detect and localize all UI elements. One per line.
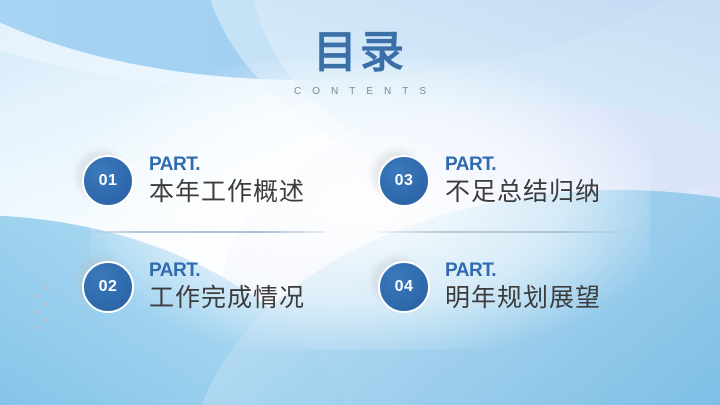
page-title: 目录 [0, 28, 720, 78]
divider-left [82, 231, 325, 233]
badge-wrap-02: 02 [82, 261, 134, 313]
decorative-dot [36, 326, 40, 330]
page-subtitle: CONTENTS [0, 86, 720, 97]
content-item-03-texts: PART. 不足总结归纳 [445, 154, 601, 208]
item-title-04[interactable]: 明年规划展望 [445, 282, 601, 314]
decorative-dot [36, 310, 40, 314]
presentation-slide: 目录 CONTENTS 01 PART. 本年工作概述 03 [0, 0, 720, 405]
content-item-01[interactable]: 01 PART. 本年工作概述 [82, 138, 360, 224]
item-title-02[interactable]: 工作完成情况 [149, 282, 305, 314]
decorative-dot [44, 286, 48, 290]
part-label-01: PART. [149, 154, 305, 175]
part-label-03: PART. [445, 154, 601, 175]
decorative-dot [44, 302, 48, 306]
content-item-04-texts: PART. 明年规划展望 [445, 260, 601, 314]
number-badge-04[interactable]: 04 [378, 261, 430, 313]
decorative-dot-column [32, 286, 54, 334]
content-item-01-texts: PART. 本年工作概述 [149, 154, 305, 208]
item-title-03[interactable]: 不足总结归纳 [445, 176, 601, 208]
contents-row-top: 01 PART. 本年工作概述 03 PART. 不足总结归纳 [82, 138, 638, 224]
badge-wrap-04: 04 [378, 261, 430, 313]
content-item-04[interactable]: 04 PART. 明年规划展望 [360, 244, 638, 330]
number-badge-03[interactable]: 03 [378, 155, 430, 207]
content-item-02-texts: PART. 工作完成情况 [149, 260, 305, 314]
number-badge-01[interactable]: 01 [82, 155, 134, 207]
badge-wrap-01: 01 [82, 155, 134, 207]
part-label-02: PART. [149, 260, 305, 281]
decorative-dot [44, 318, 48, 322]
content-item-03[interactable]: 03 PART. 不足总结归纳 [360, 138, 638, 224]
part-label-04: PART. [445, 260, 601, 281]
contents-grid: 01 PART. 本年工作概述 03 PART. 不足总结归纳 [82, 138, 638, 330]
content-item-02[interactable]: 02 PART. 工作完成情况 [82, 244, 360, 330]
row-dividers [82, 231, 638, 234]
slide-header: 目录 CONTENTS [0, 28, 720, 97]
number-badge-02[interactable]: 02 [82, 261, 134, 313]
item-title-01[interactable]: 本年工作概述 [149, 176, 305, 208]
decorative-dot [36, 294, 40, 298]
badge-wrap-03: 03 [378, 155, 430, 207]
divider-right [378, 231, 638, 233]
contents-row-bottom: 02 PART. 工作完成情况 04 PART. 明年规划展望 [82, 244, 638, 330]
